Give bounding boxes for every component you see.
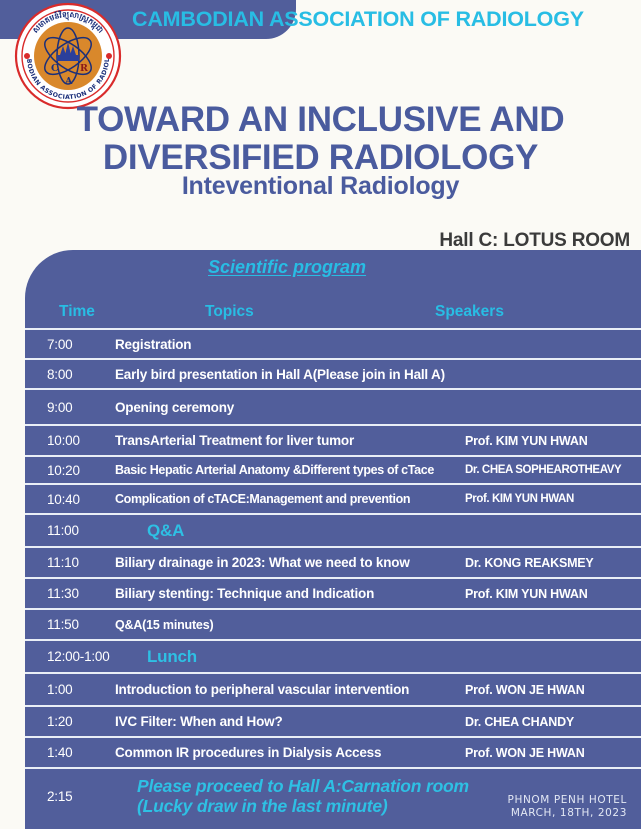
table-row: 10:20 Basic Hepatic Arterial Anatomy &Di… — [25, 455, 641, 483]
table-row: 10:40 Complication of cTACE:Management a… — [25, 483, 641, 513]
row-time: 10:40 — [25, 492, 115, 507]
program-rows: 7:00 Registration 8:00 Early bird presen… — [25, 328, 641, 823]
row-time: 11:10 — [25, 555, 115, 570]
table-row: 11:00 Q&A — [25, 513, 641, 546]
row-topic: Common IR procedures in Dialysis Access — [115, 745, 465, 760]
row-topic: TransArterial Treatment for liver tumor — [115, 433, 465, 448]
table-row: 1:00 Introduction to peripheral vascular… — [25, 672, 641, 705]
column-header-time: Time — [59, 303, 95, 321]
association-name: CAMBODIAN ASSOCIATION OF RADIOLOGY — [132, 7, 637, 32]
row-speaker: Dr. CHEA CHANDY — [465, 715, 641, 729]
row-topic: Introduction to peripheral vascular inte… — [115, 682, 465, 697]
row-topic: Opening ceremony — [115, 400, 465, 415]
svg-text:A: A — [64, 76, 73, 87]
notice-line-1: Please proceed to Hall A:Carnation room — [137, 776, 469, 796]
footer-date: MARCH, 18TH, 2023 — [508, 807, 627, 820]
row-speaker: Prof. KIM YUN HWAN — [465, 493, 641, 505]
table-row: 1:20 IVC Filter: When and How? Dr. CHEA … — [25, 705, 641, 736]
row-speaker: Dr. CHEA SOPHEAROTHEAVY — [465, 464, 641, 476]
footer-venue: PHNOM PENH HOTEL — [508, 794, 627, 807]
table-row: 1:40 Common IR procedures in Dialysis Ac… — [25, 736, 641, 767]
page-subtitle: Inteventional Radiology — [0, 172, 641, 201]
row-time: 10:20 — [25, 463, 115, 478]
svg-text:C: C — [51, 63, 59, 74]
row-time: 9:00 — [25, 400, 115, 415]
table-row: 11:10 Biliary drainage in 2023: What we … — [25, 546, 641, 577]
page-title: TOWARD AN INCLUSIVE AND DIVERSIFIED RADI… — [0, 101, 641, 177]
row-topic: Q&A — [115, 521, 465, 541]
row-time: 1:00 — [25, 682, 115, 697]
title-line-1: TOWARD AN INCLUSIVE AND — [0, 101, 641, 139]
row-topic: Basic Hepatic Arterial Anatomy &Differen… — [115, 463, 465, 477]
row-time: 12:00-1:00 — [25, 649, 115, 664]
table-row: 11:30 Biliary stenting: Technique and In… — [25, 577, 641, 608]
row-topic: Biliary stenting: Technique and Indicati… — [115, 586, 465, 601]
table-row: 12:00-1:00 Lunch — [25, 639, 641, 672]
column-header-topics: Topics — [205, 303, 254, 321]
row-time: 1:20 — [25, 714, 115, 729]
program-panel: Scientific program Time Topics Speakers … — [25, 250, 641, 829]
svg-text:R: R — [80, 63, 88, 74]
column-header-speakers: Speakers — [435, 303, 504, 321]
row-topic: Lunch — [115, 647, 465, 667]
row-speaker: Prof. WON JE HWAN — [465, 683, 641, 697]
row-speaker: Dr. KONG REAKSMEY — [465, 556, 641, 570]
association-logo-icon: សមាគមន៍វិទ្យុសាស្ត្រកម្ពុជា CAMBODIAN AS… — [13, 2, 123, 110]
table-row: 11:50 Q&A(15 minutes) — [25, 608, 641, 639]
row-speaker: Prof. WON JE HWAN — [465, 746, 641, 760]
row-time: 11:00 — [25, 523, 115, 538]
row-time: 10:00 — [25, 433, 115, 448]
row-topic: Q&A(15 minutes) — [115, 618, 465, 632]
row-time: 2:15 — [25, 789, 115, 804]
row-time: 7:00 — [25, 337, 115, 352]
row-topic: Early bird presentation in Hall A(Please… — [115, 367, 465, 382]
row-time: 1:40 — [25, 745, 115, 760]
row-topic: Registration — [115, 337, 465, 352]
notice-line-2: (Lucky draw in the last minute) — [137, 796, 388, 816]
row-speaker: Prof. KIM YUN HWAN — [465, 434, 641, 448]
table-row: 10:00 TransArterial Treatment for liver … — [25, 424, 641, 455]
poster-root: CAMBODIAN ASSOCIATION OF RADIOLOGY សមាគម… — [0, 0, 641, 829]
row-speaker: Prof. KIM YUN HWAN — [465, 587, 641, 601]
row-topic: Complication of cTACE:Management and pre… — [115, 492, 465, 506]
row-time: 11:50 — [25, 617, 115, 632]
program-heading: Scientific program — [208, 257, 366, 278]
table-row: 9:00 Opening ceremony — [25, 388, 641, 424]
table-row: 7:00 Registration — [25, 328, 641, 358]
table-row: 8:00 Early bird presentation in Hall A(P… — [25, 358, 641, 388]
hall-label: Hall C: LOTUS ROOM — [439, 230, 630, 252]
row-topic: IVC Filter: When and How? — [115, 714, 465, 729]
row-time: 11:30 — [25, 586, 115, 601]
row-time: 8:00 — [25, 367, 115, 382]
row-topic: Biliary drainage in 2023: What we need t… — [115, 555, 465, 570]
footer: PHNOM PENH HOTEL MARCH, 18TH, 2023 — [508, 794, 627, 820]
